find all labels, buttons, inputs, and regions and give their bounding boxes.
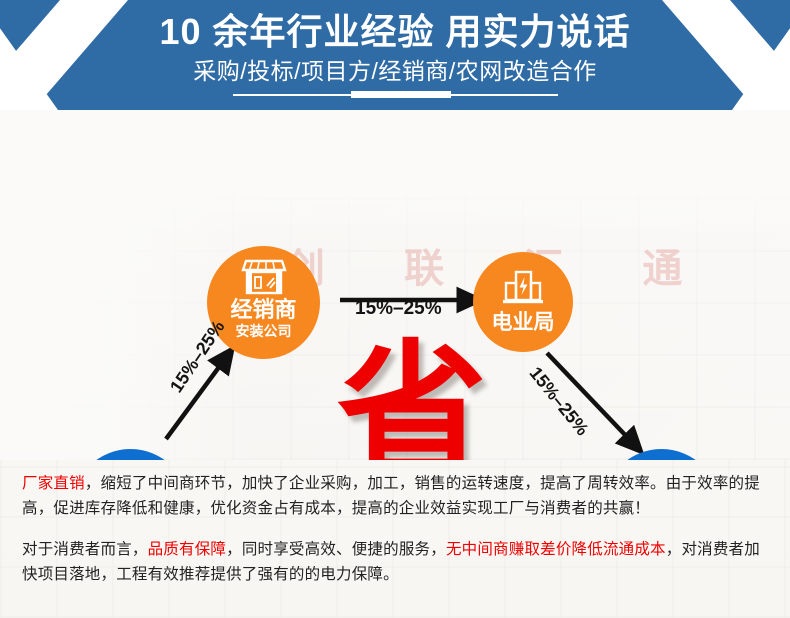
copy-p2-highlight-2: 无中间商赚取差价降低流通成本 [446, 541, 666, 558]
shop-icon [241, 259, 287, 295]
divider-right-line [438, 94, 558, 96]
benefits-copy-section: 厂家直销，缩短了中间商环节，加快了企业采购，加工，销售的运转速度，提高了周转效率… [0, 460, 790, 618]
header-banner: 10 余年行业经验 用实力说话 采购/投标/项目方/经销商/农网改造合作 [0, 0, 790, 110]
node-dealer[interactable]: 经销商 安装公司 [207, 246, 320, 359]
banner-subtitle: 采购/投标/项目方/经销商/农网改造合作 [0, 57, 790, 85]
banner-divider [233, 93, 558, 96]
copy-p1-highlight: 厂家直销 [22, 475, 85, 492]
copy-p1-text: ，缩短了中间商环节，加快了企业采购，加工，销售的运转速度，提高了周转效率。由于效… [22, 475, 760, 517]
copy-paragraph-2: 对于消费者而言，品质有保障，同时享受高效、便捷的服务，无中间商赚取差价降低流通成… [22, 537, 768, 587]
divider-left-line [233, 94, 353, 96]
node-power-bureau[interactable]: 电业局 [473, 252, 573, 352]
copy-p2-part1: 对于消费者而言， [22, 541, 148, 558]
node-dealer-label: 经销商 [207, 297, 320, 323]
power-building-icon [501, 270, 545, 306]
copy-paragraph-1: 厂家直销，缩短了中间商环节，加快了企业采购，加工，销售的运转速度，提高了周转效率… [22, 471, 768, 521]
savings-character: 省 [337, 338, 487, 460]
node-power-bureau-label: 电业局 [473, 310, 573, 335]
promo-page: 10 余年行业经验 用实力说话 采购/投标/项目方/经销商/农网改造合作 创 联… [0, 0, 790, 618]
copy-p2-part2: ，同时享受高效、便捷的服务， [226, 541, 446, 558]
copy-p2-highlight-1: 品质有保障 [148, 541, 227, 558]
arrow-label-dealer-to-bureau: 15%–25% [355, 298, 442, 320]
banner-title: 10 余年行业经验 用实力说话 [0, 10, 790, 54]
supply-chain-diagram: 创 联 汇 通 省 [0, 110, 790, 460]
divider-center-bar [351, 91, 451, 98]
